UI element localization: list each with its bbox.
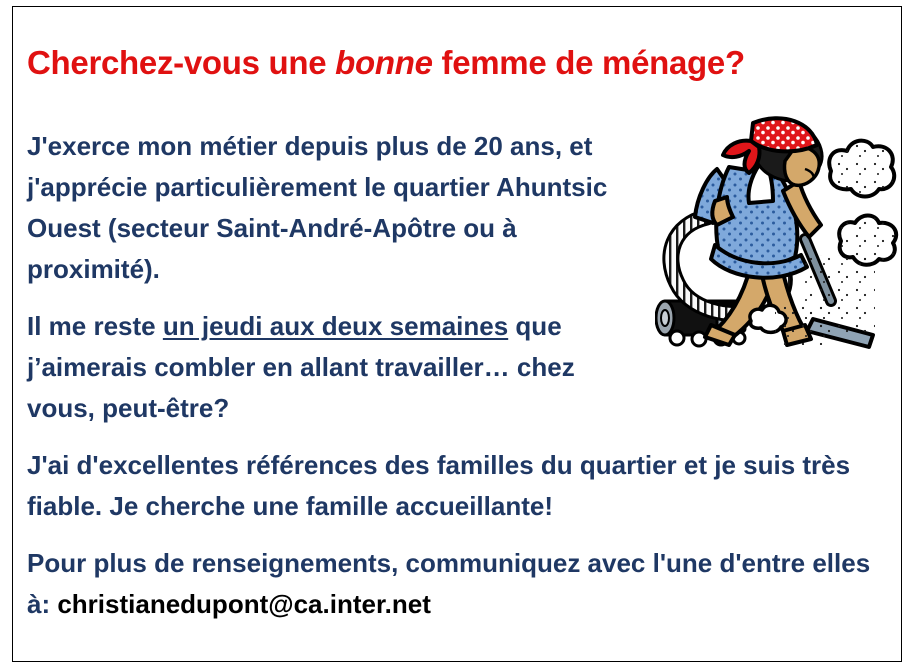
paragraph-availability: Il me reste un jeudi aux deux semaines q… [27,306,647,429]
availability-lead: Il me reste [27,311,163,341]
paragraph-contact: Pour plus de renseignements, communiquez… [27,543,882,625]
woman-vacuuming-illustration [655,105,905,355]
paragraph-experience: J'exerce mon métier depuis plus de 20 an… [27,126,647,290]
headline-italic-word: bonne [335,44,432,81]
page-title: Cherchez-vous une bonne femme de ménage? [27,44,887,82]
headline-part-2: femme de ménage? [433,44,745,81]
contact-email-address[interactable]: christianedupont@ca.inter.net [57,589,431,619]
paragraph-references: J'ai d'excellentes références des famill… [27,445,882,527]
availability-underlined-phrase: un jeudi aux deux semaines [163,311,508,341]
headline-part-1: Cherchez-vous une [27,44,335,81]
flyer-page: Cherchez-vous une bonne femme de ménage?… [0,0,912,671]
